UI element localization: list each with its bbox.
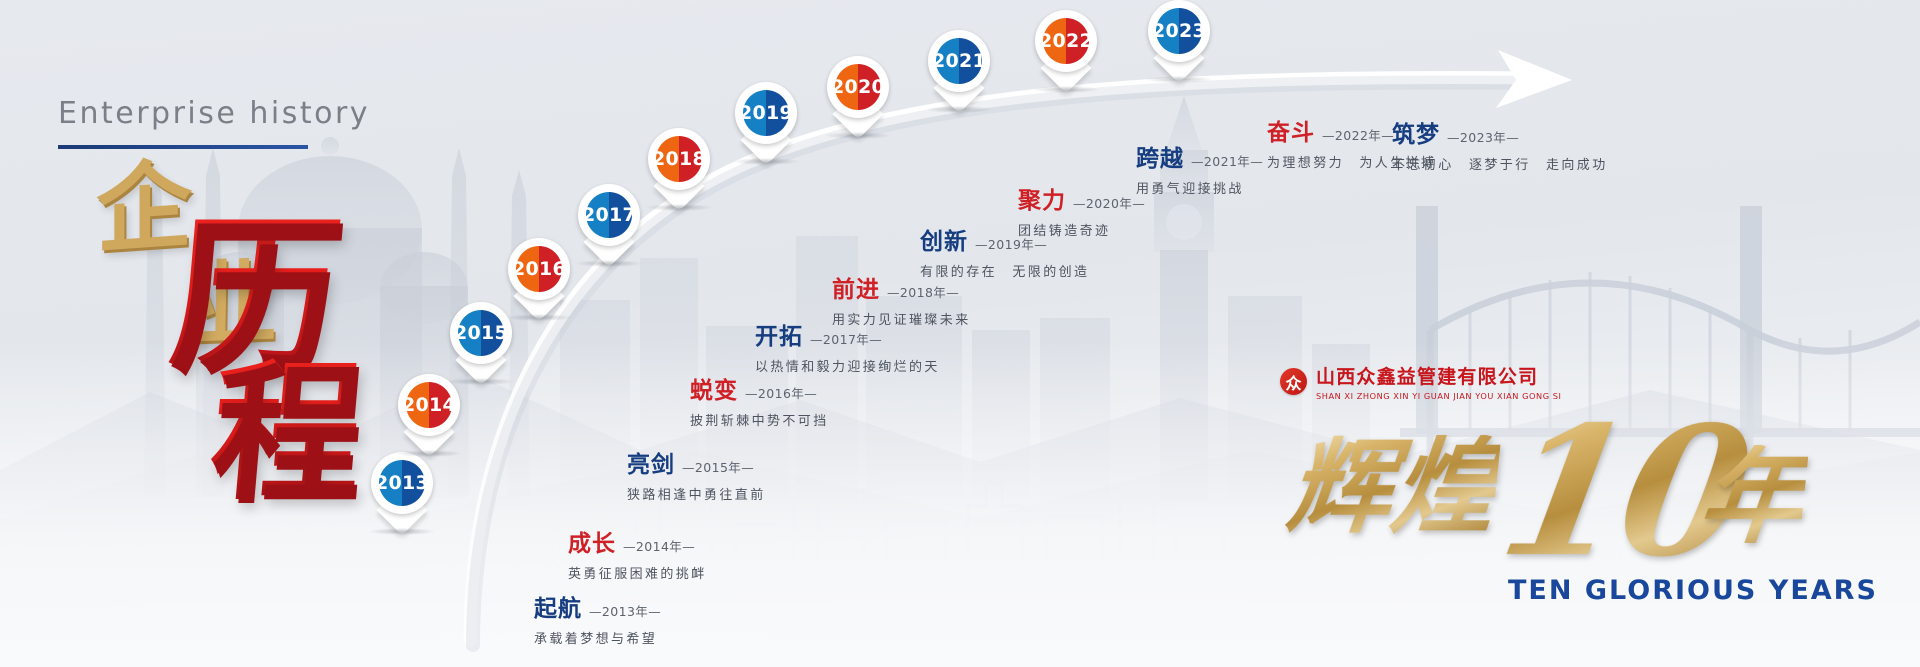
- entry-heading-row: 筑梦 —2023年—: [1392, 115, 1608, 149]
- company-name-cn: 山西众鑫益管建有限公司: [1316, 362, 1561, 389]
- timeline-entry-2016[interactable]: 蜕变 —2016年— 披荆斩棘中势不可挡: [690, 371, 829, 429]
- entry-keyword: 开拓: [755, 317, 803, 351]
- entry-year: —2018年—: [887, 282, 959, 301]
- page-title: Enterprise history: [58, 96, 388, 131]
- entry-subtitle: 有限的存在 无限的创造: [920, 261, 1089, 280]
- pin-shadow: [396, 450, 462, 457]
- pin-shadow: [448, 378, 514, 385]
- entry-year: —2014年—: [623, 536, 695, 555]
- pin-year-label: 2016: [516, 246, 562, 292]
- pin-year-label: 2021: [936, 38, 982, 84]
- timeline-entry-2015[interactable]: 亮剑 —2015年— 狭路相逢中勇往直前: [627, 445, 766, 503]
- anniversary-tagline-en: TEN GLORIOUS YEARS: [1508, 575, 1878, 606]
- timeline-pin-2015[interactable]: 2015: [450, 302, 512, 382]
- company-logo-icon: 众: [1280, 368, 1307, 395]
- entry-heading-row: 跨越 —2021年—: [1136, 139, 1263, 173]
- pin-year-label: 2015: [458, 310, 504, 356]
- pin-year-label: 2018: [656, 136, 702, 182]
- entry-subtitle: 团结铸造奇迹: [1018, 220, 1145, 239]
- pin-shadow: [369, 528, 435, 535]
- entry-year: —2023年—: [1447, 127, 1519, 146]
- pin-shadow: [1033, 86, 1099, 93]
- timeline-pin-2013[interactable]: 2013: [371, 452, 433, 532]
- entry-keyword: 跨越: [1136, 139, 1184, 173]
- timeline-pin-2016[interactable]: 2016: [508, 238, 570, 318]
- pin-year-label: 2019: [743, 90, 789, 136]
- pin-shadow: [506, 314, 572, 321]
- entry-year: —2022年—: [1322, 125, 1394, 144]
- pin-shadow: [733, 158, 799, 165]
- entry-subtitle: 披荆斩棘中势不可挡: [690, 410, 829, 429]
- timeline-pin-2020[interactable]: 2020: [827, 56, 889, 136]
- anniversary-hui-huang: 辉煌: [1283, 435, 1502, 539]
- entry-year: —2013年—: [589, 601, 661, 620]
- timeline-pin-2017[interactable]: 2017: [578, 184, 640, 264]
- timeline-pin-2022[interactable]: 2022: [1035, 10, 1097, 90]
- timeline-pin-2014[interactable]: 2014: [398, 374, 460, 454]
- timeline-entry-2013[interactable]: 起航 —2013年— 承载着梦想与希望: [534, 589, 661, 647]
- timeline-entry-2014[interactable]: 成长 —2014年— 英勇征服困难的挑衅: [568, 524, 707, 582]
- page-title-block: Enterprise history: [58, 96, 388, 149]
- timeline-entry-2020[interactable]: 聚力 —2020年— 团结铸造奇迹: [1018, 181, 1145, 239]
- pin-year-label: 2013: [379, 460, 425, 506]
- brand-block: 众 山西众鑫益管建有限公司 SHAN XI ZHONG XIN YI GUAN …: [1280, 362, 1900, 555]
- timeline-entry-2023[interactable]: 筑梦 —2023年— 不忘初心 逐梦于行 走向成功: [1392, 115, 1608, 173]
- entry-keyword: 聚力: [1018, 181, 1066, 215]
- timeline-pin-2018[interactable]: 2018: [648, 128, 710, 208]
- entry-subtitle: 以热情和毅力迎接绚烂的天: [755, 356, 940, 375]
- pin-year-label: 2023: [1156, 8, 1202, 54]
- pin-shadow: [646, 204, 712, 211]
- entry-keyword: 前进: [832, 270, 880, 304]
- calligraphy-char-cheng: 程: [205, 358, 368, 508]
- timeline-pin-2019[interactable]: 2019: [735, 82, 797, 162]
- entry-year: —2021年—: [1191, 151, 1263, 170]
- pin-shadow: [1146, 76, 1212, 83]
- timeline-pin-2023[interactable]: 2023: [1148, 0, 1210, 80]
- entry-keyword: 起航: [534, 589, 582, 623]
- entry-heading-row: 蜕变 —2016年—: [690, 371, 829, 405]
- entry-heading-row: 聚力 —2020年—: [1018, 181, 1145, 215]
- entry-keyword: 筑梦: [1392, 115, 1440, 149]
- entry-year: —2016年—: [745, 383, 817, 402]
- pin-shadow: [576, 260, 642, 267]
- anniversary-headline: 辉煌 10 年 TEN GLORIOUS YEARS: [1280, 405, 1900, 555]
- entry-subtitle: 用实力见证璀璨未来: [832, 309, 971, 328]
- entry-year: —2017年—: [810, 329, 882, 348]
- entry-keyword: 奋斗: [1267, 113, 1315, 147]
- entry-keyword: 创新: [920, 222, 968, 256]
- pin-year-label: 2017: [586, 192, 632, 238]
- entry-subtitle: 用勇气迎接挑战: [1136, 178, 1263, 197]
- entry-year: —2020年—: [1073, 193, 1145, 212]
- entry-keyword: 蜕变: [690, 371, 738, 405]
- entry-heading-row: 亮剑 —2015年—: [627, 445, 766, 479]
- anniversary-nian: 年: [1695, 445, 1810, 549]
- entry-year: —2015年—: [682, 457, 754, 476]
- pin-shadow: [825, 132, 891, 139]
- entry-heading-row: 起航 —2013年—: [534, 589, 661, 623]
- entry-subtitle: 不忘初心 逐梦于行 走向成功: [1392, 154, 1608, 173]
- pin-year-label: 2022: [1043, 18, 1089, 64]
- entry-keyword: 亮剑: [627, 445, 675, 479]
- timeline-entry-2021[interactable]: 跨越 —2021年— 用勇气迎接挑战: [1136, 139, 1263, 197]
- pin-year-label: 2020: [835, 64, 881, 110]
- pin-shadow: [926, 106, 992, 113]
- entry-keyword: 成长: [568, 524, 616, 558]
- pin-year-label: 2014: [406, 382, 452, 428]
- entry-subtitle: 狭路相逢中勇往直前: [627, 484, 766, 503]
- entry-subtitle: 英勇征服困难的挑衅: [568, 563, 707, 582]
- entry-subtitle: 承载着梦想与希望: [534, 628, 661, 647]
- entry-heading-row: 成长 —2014年—: [568, 524, 707, 558]
- infographic-canvas: Enterprise history 企 业 历 程 2013 2014: [0, 0, 1920, 667]
- timeline-pin-2021[interactable]: 2021: [928, 30, 990, 110]
